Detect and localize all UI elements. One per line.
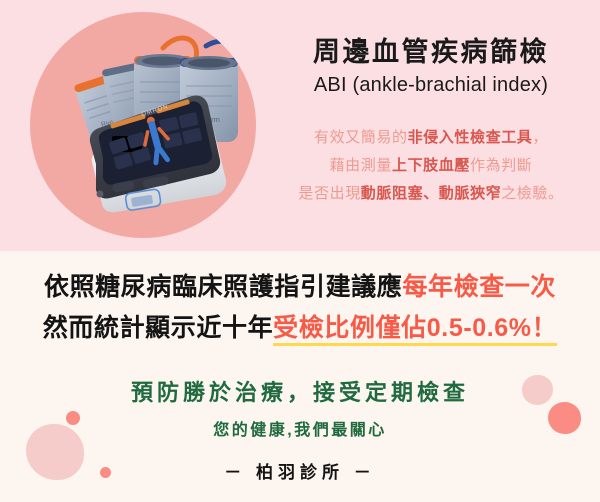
slogan-line-2: 您的健康,我們最關心 (0, 416, 600, 440)
slogan-block: 預防勝於治療，接受定期檢查 您的健康,我們最關心 (0, 375, 600, 440)
statement-line-2: 然而統計顯示近十年受檢比例僅佔0.5-0.6%！ (0, 308, 600, 349)
desc-1-tail: ， (532, 129, 548, 146)
decor-circle-left-small (66, 411, 80, 425)
page-subtitle: ABI (ankle-brachial index) (262, 74, 600, 97)
statement-line-1: 依照糖尿病臨床照護指引建議應每年檢查一次 (0, 267, 600, 308)
statement-1-black: 依照糖尿病臨床照護指引建議應 (44, 273, 402, 301)
clinic-name: － 柏羽診所 － (0, 458, 600, 483)
poster-root: Right Arm Right Arm (0, 0, 600, 502)
desc-3-normal: 是否出現 (298, 185, 360, 202)
description-block: 有效又簡易的非侵入性檢查工具， 藉由測量上下肢血壓作為判斷 是否出現動脈阻塞、動… (262, 124, 600, 207)
description-line-1: 有效又簡易的非侵入性檢查工具， (262, 124, 600, 152)
decor-circle-right-salmon (548, 402, 581, 434)
desc-2-tail: 作為判斷 (470, 157, 532, 174)
decor-circle-right-pale (522, 375, 553, 405)
decor-circle-left-large (26, 424, 84, 480)
desc-3-tail: 之檢驗。 (501, 185, 563, 202)
desc-1-emphasis: 非侵入性檢查工具 (408, 129, 533, 146)
header-text-block: 周邊血管疾病篩檢 ABI (ankle-brachial index) (262, 36, 600, 97)
statement-block: 依照糖尿病臨床照護指引建議應每年檢查一次 然而統計顯示近十年受檢比例僅佔0.5-… (0, 267, 600, 348)
desc-2-emphasis: 上下肢血壓 (392, 157, 470, 174)
slogan-line-1: 預防勝於治療，接受定期檢查 (0, 375, 600, 407)
abi-device-icon: Right Arm Right Arm (30, 12, 256, 238)
desc-3-emphasis: 動脈阻塞、動脈狹窄 (361, 185, 501, 202)
description-line-2: 藉由測量上下肢血壓作為判斷 (262, 152, 600, 180)
statement-1-red: 每年檢查一次 (402, 273, 556, 301)
desc-1-normal: 有效又簡易的 (314, 129, 408, 146)
page-title: 周邊血管疾病篩檢 (262, 36, 600, 70)
statement-2-black: 然而統計顯示近十年 (43, 314, 273, 342)
desc-2-normal: 藉由測量 (330, 157, 392, 174)
decor-circle-left-tiny (100, 467, 111, 478)
device-illustration: Right Arm Right Arm (30, 12, 256, 238)
statement-2-red-underlined: 受檢比例僅佔0.5-0.6%！ (273, 314, 557, 346)
description-line-3: 是否出現動脈阻塞、動脈狹窄之檢驗。 (262, 180, 600, 208)
